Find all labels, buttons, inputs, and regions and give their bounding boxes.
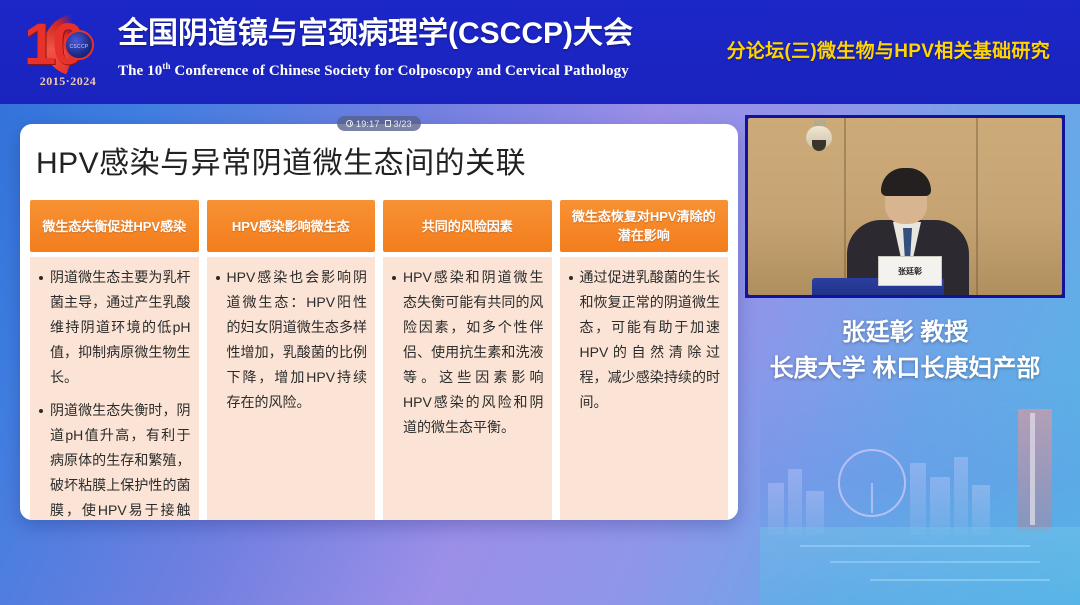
slide-counter-value: 3/23 xyxy=(394,119,412,129)
card-heading: 微生态失衡促进HPV感染 xyxy=(30,200,199,252)
card-body: HPV感染也会影响阴道微生态：HPV阳性的妇女阴道微生态多样性增加，乳酸菌的比例… xyxy=(207,257,376,520)
water-streak xyxy=(800,545,1030,547)
conference-title-en: The 10th Conference of Chinese Society f… xyxy=(118,56,633,81)
slide-card-row: 微生态失衡促进HPV感染 阴道微生态主要为乳杆菌主导，通过产生乳酸维持阴道环境的… xyxy=(30,200,728,520)
podium-nameplate-text: 张廷彰 xyxy=(898,266,922,277)
session-title: 分论坛(三)微生物与HPV相关基础研究 xyxy=(727,36,1050,63)
card-bullet-list: HPV感染也会影响阴道微生态：HPV阳性的妇女阴道微生态多样性增加，乳酸菌的比例… xyxy=(215,265,368,415)
speaker-video-feed[interactable]: 张廷彰 xyxy=(745,115,1065,298)
river-reflection xyxy=(760,527,1080,605)
wall-seam xyxy=(976,118,978,295)
slide-card: 共同的风险因素 HPV感染和阴道微生态失衡可能有共同的风险因素，如多个性伴侣、使… xyxy=(383,200,552,520)
ferris-wheel-icon xyxy=(838,449,906,517)
conference-header: 10 CSCCP 2015·2024 全国阴道镜与宫颈病理学(CSCCP)大会 … xyxy=(0,0,1080,104)
card-bullet: 阴道微生态失衡时，阴道pH值升高，有利于病原体的生存和繁殖，破坏粘膜上保护性的菌… xyxy=(38,398,191,520)
podium-nameplate: 张廷彰 xyxy=(878,256,942,286)
slide-panel[interactable]: HPV感染与异常阴道微生态间的关联 微生态失衡促进HPV感染 阴道微生态主要为乳… xyxy=(20,124,738,520)
speaker-affiliation: 长庚大学 林口长庚妇产部 xyxy=(735,352,1075,386)
card-heading: 微生态恢复对HPV清除的潜在影响 xyxy=(560,200,729,252)
card-body: 阴道微生态主要为乳杆菌主导，通过产生乳酸维持阴道环境的低pH值，抑制病原微生物生… xyxy=(30,257,199,520)
conference-title-block: 全国阴道镜与宫颈病理学(CSCCP)大会 The 10th Conference… xyxy=(118,14,633,81)
card-bullet-list: 通过促进乳酸菌的生长和恢复正常的阴道微生态，可能有助于加速HPV的自然清除过程，… xyxy=(568,265,721,415)
elapsed-time-value: 19:17 xyxy=(356,119,380,129)
logo-years-label: 2015·2024 xyxy=(18,74,118,89)
wall-seam xyxy=(844,118,846,295)
card-bullet-list: HPV感染和阴道微生态失衡可能有共同的风险因素，如多个性伴侣、使用抗生素和洗液等… xyxy=(391,265,544,440)
card-bullet: 通过促进乳酸菌的生长和恢复正常的阴道微生态，可能有助于加速HPV的自然清除过程，… xyxy=(568,265,721,415)
slide-card: HPV感染影响微生态 HPV感染也会影响阴道微生态：HPV阳性的妇女阴道微生态多… xyxy=(207,200,376,520)
card-bullet: 阴道微生态主要为乳杆菌主导，通过产生乳酸维持阴道环境的低pH值，抑制病原微生物生… xyxy=(38,265,191,390)
logo-emblem-text: CSCCP xyxy=(66,32,92,58)
building xyxy=(910,463,926,535)
building xyxy=(788,469,802,535)
security-camera-icon xyxy=(806,126,832,148)
cityscape-background xyxy=(760,375,1080,605)
card-body: HPV感染和阴道微生态失衡可能有共同的风险因素，如多个性伴侣、使用抗生素和洗液等… xyxy=(383,257,552,520)
slide-card: 微生态失衡促进HPV感染 阴道微生态主要为乳杆菌主导，通过产生乳酸维持阴道环境的… xyxy=(30,200,199,520)
slide-card: 微生态恢复对HPV清除的潜在影响 通过促进乳酸菌的生长和恢复正常的阴道微生态，可… xyxy=(560,200,729,520)
card-bullet-list: 阴道微生态主要为乳杆菌主导，通过产生乳酸维持阴道环境的低pH值，抑制病原微生物生… xyxy=(38,265,191,520)
presentation-screen: 10 CSCCP 2015·2024 全国阴道镜与宫颈病理学(CSCCP)大会 … xyxy=(0,0,1080,605)
water-streak xyxy=(830,561,1040,563)
page-icon xyxy=(385,120,391,127)
speaker-name: 张廷彰 教授 xyxy=(745,316,1065,350)
card-bullet: HPV感染也会影响阴道微生态：HPV阳性的妇女阴道微生态多样性增加，乳酸菌的比例… xyxy=(215,265,368,415)
card-heading: HPV感染影响微生态 xyxy=(207,200,376,252)
card-body: 通过促进乳酸菌的生长和恢复正常的阴道微生态，可能有助于加速HPV的自然清除过程，… xyxy=(560,257,729,520)
building xyxy=(954,457,968,535)
card-heading: 共同的风险因素 xyxy=(383,200,552,252)
highrise-tower xyxy=(1018,409,1052,531)
speaker-hair xyxy=(881,168,931,196)
slide-counter-group: 3/23 xyxy=(385,119,412,129)
conference-title-cn: 全国阴道镜与宫颈病理学(CSCCP)大会 xyxy=(118,14,633,54)
status-badge: 19:17 3/23 xyxy=(337,116,421,131)
clock-icon xyxy=(346,120,353,127)
conference-title-en-pre: The 10 xyxy=(118,63,162,79)
conference-title-en-post: Conference of Chinese Society for Colpos… xyxy=(171,63,629,79)
water-streak xyxy=(870,579,1050,581)
slide-title: HPV感染与异常阴道微生态间的关联 xyxy=(36,138,738,182)
elapsed-time-group: 19:17 xyxy=(346,119,380,129)
logo-emblem-icon: CSCCP xyxy=(64,30,94,60)
card-bullet: HPV感染和阴道微生态失衡可能有共同的风险因素，如多个性伴侣、使用抗生素和洗液等… xyxy=(391,265,544,440)
conference-logo: 10 CSCCP 2015·2024 xyxy=(18,8,118,96)
conference-title-en-ordinal: th xyxy=(162,61,170,71)
video-frame: 张廷彰 xyxy=(748,118,1062,295)
